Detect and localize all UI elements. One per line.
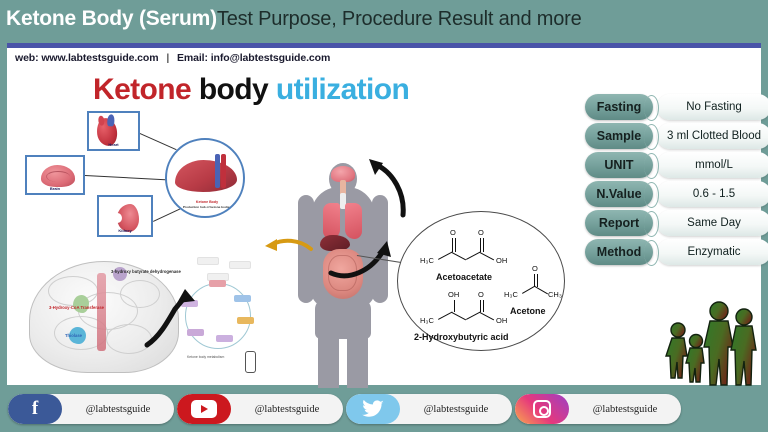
email-link[interactable]: info@labtestsguide.com bbox=[211, 52, 330, 64]
table-row: Fasting No Fasting bbox=[585, 93, 768, 121]
atom-h3c-acetone: H₃C bbox=[504, 290, 518, 299]
table-row: Method Enzymatic bbox=[585, 238, 768, 266]
atom-h3c-acetoacetate: H₃C bbox=[420, 256, 434, 265]
table-row: Sample 3 ml Clotted Blood bbox=[585, 122, 768, 150]
liver-caption-subtitle: Production hub of ketone bodies bbox=[173, 205, 241, 209]
row-label-method: Method bbox=[585, 239, 653, 265]
arrow-yellow-left bbox=[265, 237, 313, 253]
twitter-handle: @labtestsguide bbox=[400, 404, 512, 415]
title-word-ketone: Ketone bbox=[93, 73, 191, 106]
website-link[interactable]: www.labtestsguide.com bbox=[41, 52, 158, 64]
pathway-flow-arrow bbox=[97, 273, 106, 351]
test-info-table: Fasting No Fasting Sample 3 ml Clotted B… bbox=[585, 93, 768, 268]
phone-icon bbox=[245, 351, 256, 373]
human-body-figure bbox=[295, 161, 391, 419]
title-word-body: body bbox=[199, 73, 268, 106]
body-organ-lung-left bbox=[323, 203, 340, 239]
row-value-fasting: No Fasting bbox=[657, 94, 768, 120]
compound-name-acetone: Acetone bbox=[510, 306, 546, 316]
instagram-icon[interactable] bbox=[515, 394, 569, 424]
brain-icon bbox=[41, 165, 75, 187]
liver-caption: Ketone Body Production hub of ketone bod… bbox=[173, 200, 241, 209]
social-badge-instagram[interactable]: @labtestsguide bbox=[515, 394, 681, 424]
pathway-label-blue: Thiolase bbox=[65, 333, 82, 338]
content-canvas: web: www.labtestsguide.com | Email: info… bbox=[4, 40, 764, 388]
youtube-icon[interactable] bbox=[177, 394, 231, 424]
instagram-camera-glyph bbox=[533, 400, 551, 418]
compound-name-hydroxybutyric: 2-Hydroxybutyric acid bbox=[414, 332, 509, 342]
connector-brain-liver bbox=[85, 175, 170, 180]
metabolic-pathway-diagram: 3-Hydroxy-CoA Transferase Thiolase 3-hyd… bbox=[21, 255, 265, 383]
liver-caption-title: Ketone Body bbox=[196, 200, 218, 204]
liver-icon bbox=[175, 160, 237, 192]
page-header: Ketone Body (Serum) Test Purpose, Proced… bbox=[0, 0, 768, 38]
table-row: UNIT mmol/L bbox=[585, 151, 768, 179]
family-silhouette bbox=[664, 283, 764, 388]
atom-o-acetone: O bbox=[532, 264, 538, 273]
atom-oh-acetoacetate: OH bbox=[496, 256, 507, 265]
atom-o-hydroxybutyric: O bbox=[478, 290, 484, 299]
organ-label-heart: Heart bbox=[89, 142, 138, 147]
connector-heart-liver bbox=[140, 133, 177, 150]
organ-box-heart: Heart bbox=[87, 111, 140, 151]
pathway-label-red: 3-Hydroxy-CoA Transferase bbox=[49, 305, 104, 310]
facebook-glyph: f bbox=[32, 398, 38, 420]
twitter-icon[interactable] bbox=[346, 394, 400, 424]
contact-strip: web: www.labtestsguide.com | Email: info… bbox=[15, 52, 330, 64]
instagram-handle: @labtestsguide bbox=[569, 404, 681, 415]
atom-o-acetoacetate-1: O bbox=[450, 228, 456, 237]
pathway-black-arrow bbox=[141, 279, 209, 351]
organ-box-brain: Brain bbox=[25, 155, 85, 195]
atom-ch3-acetone: CH₃ bbox=[548, 290, 562, 299]
facebook-icon[interactable]: f bbox=[8, 394, 62, 424]
row-value-nvalue: 0.6 - 1.5 bbox=[657, 181, 768, 207]
arrow-to-brain bbox=[347, 155, 411, 225]
poster-root: Ketone Body (Serum) Test Purpose, Proced… bbox=[0, 0, 768, 432]
row-label-sample: Sample bbox=[585, 123, 653, 149]
pathway-label-dark: 3-hydroxy butyrate dehydrogenase bbox=[111, 269, 181, 275]
atom-oh-hydroxybutyric-1: OH bbox=[448, 290, 459, 299]
atom-oh-hydroxybutyric-2: OH bbox=[496, 316, 507, 325]
row-value-unit: mmol/L bbox=[657, 152, 768, 178]
row-label-unit: UNIT bbox=[585, 152, 653, 178]
title-word-utilization: utilization bbox=[276, 73, 409, 106]
contact-separator: | bbox=[161, 52, 174, 64]
page-title-bold: Ketone Body (Serum) bbox=[6, 7, 217, 31]
atom-h3c-hydroxybutyric: H₃C bbox=[420, 316, 434, 325]
atom-o-acetoacetate-2: O bbox=[478, 228, 484, 237]
twitter-bird-glyph bbox=[362, 400, 384, 418]
row-value-method: Enzymatic bbox=[657, 239, 768, 265]
page-title-rest: Test Purpose, Procedure Result and more bbox=[217, 8, 582, 31]
organ-box-kidney: Kidney bbox=[97, 195, 153, 237]
youtube-handle: @labtestsguide bbox=[231, 404, 343, 415]
liver-circle: Ketone Body Production hub of ketone bod… bbox=[165, 138, 245, 218]
row-value-sample: 3 ml Clotted Blood bbox=[657, 123, 768, 149]
cycle-caption: Ketone body metabolism bbox=[187, 355, 224, 359]
social-badge-facebook[interactable]: f @labtestsguide bbox=[8, 394, 174, 424]
youtube-play-box bbox=[191, 400, 217, 418]
ketone-structures-circle: H₃C O O OH Acetoacetate H₃C O CH₃ Aceton… bbox=[397, 211, 565, 351]
row-label-fasting: Fasting bbox=[585, 94, 653, 120]
web-label: web: bbox=[15, 52, 39, 64]
social-footer: f @labtestsguide @labtestsguide @labtest… bbox=[4, 388, 764, 430]
social-badge-twitter[interactable]: @labtestsguide bbox=[346, 394, 512, 424]
row-value-report: Same Day bbox=[657, 210, 768, 236]
row-label-nvalue: N.Value bbox=[585, 181, 653, 207]
organ-label-brain: Brain bbox=[27, 186, 83, 191]
social-badge-youtube[interactable]: @labtestsguide bbox=[177, 394, 343, 424]
table-row: N.Value 0.6 - 1.5 bbox=[585, 180, 768, 208]
top-rule bbox=[7, 43, 761, 48]
row-label-report: Report bbox=[585, 210, 653, 236]
pathway-blob-green bbox=[73, 295, 89, 313]
table-row: Report Same Day bbox=[585, 209, 768, 237]
facebook-handle: @labtestsguide bbox=[62, 404, 174, 415]
email-label: Email: bbox=[177, 52, 208, 64]
organ-label-kidney: Kidney bbox=[99, 228, 151, 233]
illustration-title: Ketone body utilization bbox=[93, 73, 409, 107]
compound-name-acetoacetate: Acetoacetate bbox=[436, 272, 492, 282]
